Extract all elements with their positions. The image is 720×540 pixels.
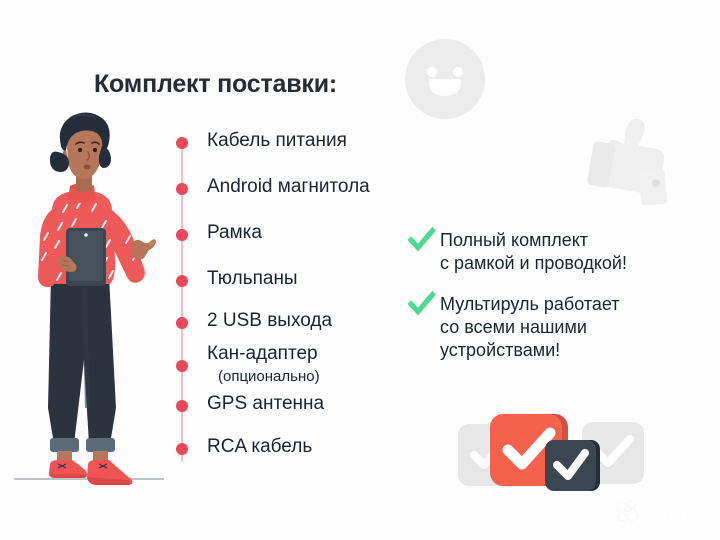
list-item: Кан-адаптер [207, 343, 318, 365]
benefit-text: Полный комплект с рамкой и проводкой! [440, 228, 627, 275]
list-item: GPS антенна [207, 393, 324, 415]
thumbs-up-icon [576, 108, 680, 206]
benefit-item: Мультируль работает со всеми нашими устр… [408, 292, 698, 362]
bullet-dot [176, 183, 188, 195]
list-item-note: (опционально) [218, 368, 320, 385]
list-item: RCA кабель [207, 436, 312, 458]
bullet-dot [176, 443, 188, 455]
list-item: 2 USB выхода [207, 310, 332, 332]
bullet-dot [176, 275, 188, 287]
smiley-face-icon [404, 38, 486, 120]
bullet-dot [176, 229, 188, 241]
avito-watermark: Avito [614, 498, 710, 526]
list-item: Android магнитола [207, 176, 370, 198]
list-item: Рамка [207, 222, 262, 244]
list-item: Тюльпаны [207, 268, 298, 290]
avito-watermark-text: Avito [642, 502, 694, 525]
bullet-dot [176, 317, 188, 329]
benefit-text: Мультируль работает со всеми нашими устр… [440, 292, 620, 362]
bullet-dot [176, 137, 188, 149]
benefit-item: Полный комплект с рамкой и проводкой! [408, 228, 698, 275]
green-check-icon [408, 291, 435, 318]
list-item: Кабель питания [207, 130, 347, 152]
bullet-dot [176, 400, 188, 412]
promo-banner: Комплект поставки: Кабель питания Androi… [0, 0, 720, 540]
checkbox-cards-icon [458, 408, 644, 496]
bullet-dot [176, 360, 188, 372]
green-check-icon [408, 227, 435, 254]
benefits-list: Полный комплект с рамкой и проводкой! Му… [408, 228, 698, 379]
woman-pointing-illustration [14, 108, 164, 508]
page-title: Комплект поставки: [94, 70, 337, 99]
